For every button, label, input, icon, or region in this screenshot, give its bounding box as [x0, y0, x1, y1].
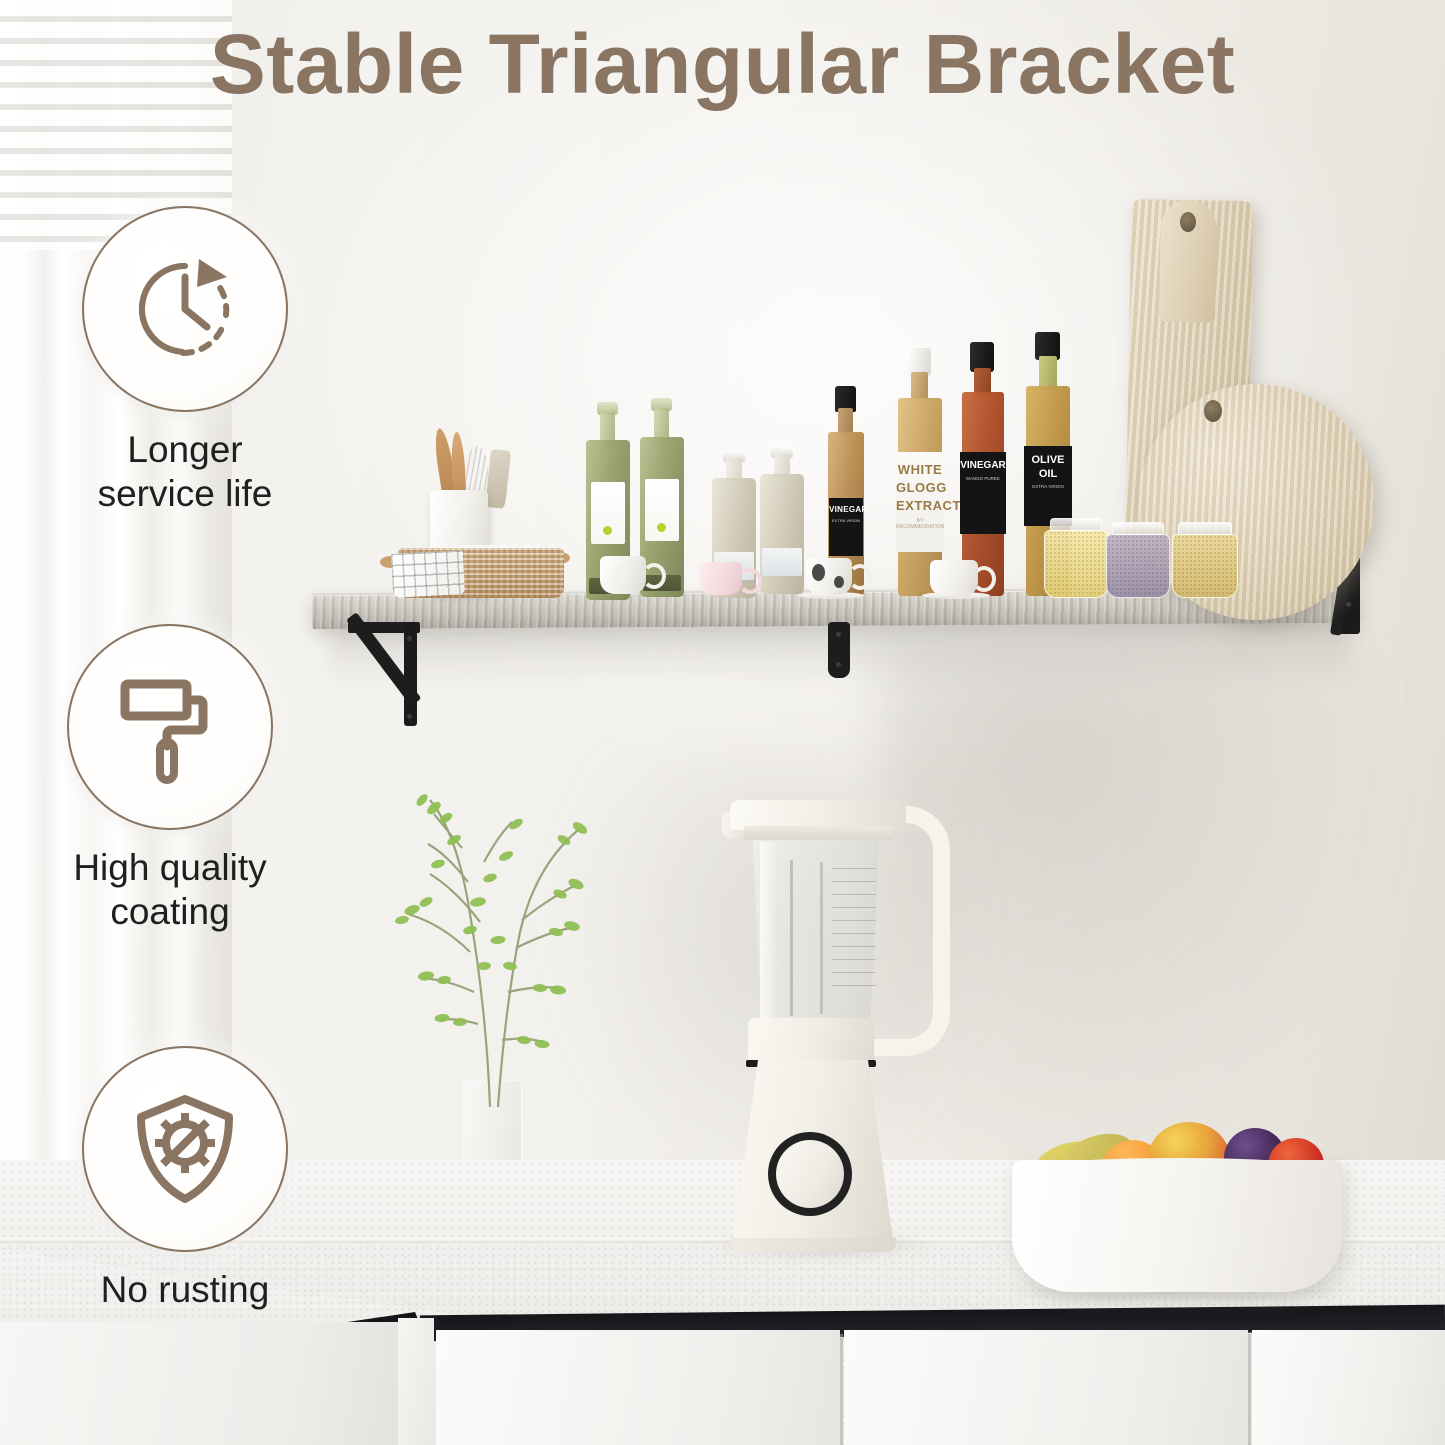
bottle-neck	[726, 458, 742, 480]
feature-label-line1: High quality	[20, 846, 320, 890]
grain-texture	[1173, 535, 1237, 597]
feature-badge-circle	[82, 1046, 288, 1252]
blender-blade-shaft	[790, 860, 793, 1016]
feature-label-line1: Longer	[35, 428, 335, 472]
label-dot	[603, 526, 612, 535]
blender-control-knob[interactable]	[776, 1140, 844, 1208]
potted-branch-plant	[350, 752, 650, 1112]
bracket-screw	[836, 632, 841, 637]
olive-oil-sub: EXTRA VIRGIN	[1024, 484, 1072, 489]
cabinet-gap	[840, 1334, 843, 1445]
blender-handle	[872, 806, 950, 1056]
mug-pattern	[834, 576, 844, 588]
feature-label: High quality coating	[20, 846, 320, 933]
bottle-label	[645, 479, 679, 541]
feature-badge-circle	[67, 624, 273, 830]
clear-bottle-2	[760, 474, 804, 594]
bracket-wall-plate	[828, 622, 850, 678]
grain-texture	[1107, 535, 1169, 597]
jar-lid	[1112, 522, 1164, 535]
checkered-towel	[391, 550, 465, 598]
vinegar-label: VINEGAR EXTRA VIRGIN	[829, 498, 863, 556]
blender-measurement-marks	[832, 868, 876, 988]
feature-label-line2: service life	[35, 472, 335, 516]
glogg-label: WHITE GLOGG EXTRACT BY RECOMMENDATION	[896, 452, 944, 552]
feature-badge-circle	[82, 206, 288, 412]
grain-texture	[1045, 531, 1107, 597]
jar-lid	[1050, 518, 1102, 531]
grain-jar-seeds	[1106, 534, 1170, 598]
bracket-screw	[1346, 602, 1351, 607]
vinegar-red-title: VINEGAR	[960, 460, 1006, 471]
glogg-label-line1: WHITE	[896, 462, 944, 477]
bottle-neck	[1039, 356, 1057, 390]
vinegar-red-sub: MANGO PUREE	[960, 476, 1006, 481]
cabinet-door[interactable]	[844, 1330, 1248, 1445]
olive-oil-line2: OIL	[1024, 468, 1072, 480]
feature-longer-service-life: Longer service life	[35, 206, 335, 515]
feature-label: No rusting	[35, 1268, 335, 1312]
cabinet-door[interactable]	[436, 1330, 840, 1445]
shield-no-rust-icon	[125, 1089, 245, 1209]
glogg-label-line4: BY RECOMMENDATION	[896, 518, 944, 530]
blender-jar-collar	[748, 1018, 874, 1066]
bracket-center	[828, 622, 850, 678]
cabinet-gap	[1248, 1334, 1251, 1445]
glogg-label-line3: EXTRACT	[896, 498, 944, 513]
bracket-screw	[836, 662, 841, 667]
feature-high-quality-coating: High quality coating	[20, 624, 320, 933]
mug-pink	[700, 562, 742, 595]
bottle-neck	[774, 454, 790, 476]
vinegar-label-sub: EXTRA VIRGIN	[829, 518, 863, 523]
mug-white	[930, 560, 978, 596]
feature-label: Longer service life	[35, 428, 335, 515]
clock-arrow-icon	[125, 249, 245, 369]
cabinet-door[interactable]	[0, 1322, 400, 1445]
feature-label-line2: coating	[20, 890, 320, 934]
glogg-label-line2: GLOGG	[896, 480, 944, 495]
grain-jar-corn	[1044, 530, 1108, 598]
vinegar-label-title: VINEGAR	[829, 505, 863, 514]
vinegar-red-label: VINEGAR MANGO PUREE	[960, 452, 1006, 534]
cabinet-door[interactable]	[1252, 1330, 1445, 1445]
olive-oil-line1: OLIVE	[1024, 454, 1072, 466]
bracket-screw	[407, 714, 412, 719]
window-area	[0, 0, 232, 1222]
label-dot	[657, 523, 666, 532]
mug-pattern	[614, 566, 626, 582]
blender-foot	[730, 1238, 896, 1252]
feature-no-rusting: No rusting	[35, 1046, 335, 1312]
blender-lid-lip	[744, 826, 892, 840]
olive-oil-label: OLIVE OIL EXTRA VIRGIN	[1024, 446, 1072, 526]
cabinet-corner-post	[398, 1318, 434, 1445]
product-marketing-image: VINEGAR EXTRA VIRGIN WHITE GLOGG EXTRACT…	[0, 0, 1445, 1445]
cutting-board-hanging-hole	[1180, 212, 1196, 232]
page-title: Stable Triangular Bracket	[0, 16, 1445, 113]
cutting-board-round-hole	[1204, 400, 1222, 422]
bracket-screw	[407, 636, 412, 641]
fruit-bowl	[1012, 1160, 1342, 1292]
bottle-label	[762, 548, 802, 576]
triangular-bracket-left	[348, 622, 424, 726]
blender-blade-shaft	[820, 862, 823, 1014]
grain-jar-bulgur	[1172, 534, 1238, 598]
bottle-label	[591, 482, 625, 544]
paint-roller-icon	[111, 668, 229, 786]
mug-pattern	[812, 564, 825, 581]
feature-label-line1: No rusting	[35, 1268, 335, 1312]
blender-jar-highlight	[760, 842, 778, 1020]
jar-lid	[1178, 522, 1232, 535]
